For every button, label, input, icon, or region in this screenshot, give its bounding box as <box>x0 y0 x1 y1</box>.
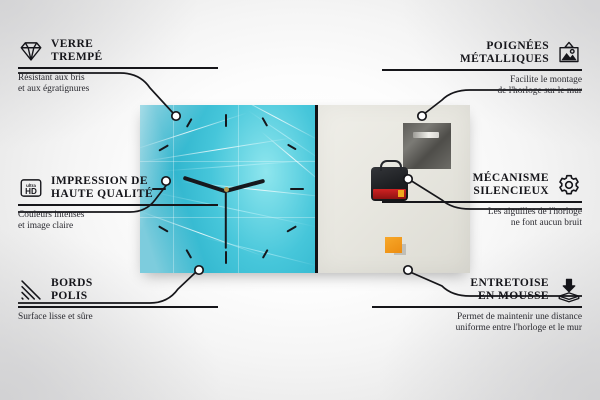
callout-title-line2: TREMPÉ <box>51 51 103 64</box>
callout-title-line2: SILENCIEUX <box>473 185 549 198</box>
diagonal-lines-icon <box>18 277 44 303</box>
callout-title-line2: EN MOUSSE <box>470 290 549 303</box>
callout-title-line1: POIGNÉES <box>460 40 549 53</box>
callout-sub-line1: Résistant aux bris <box>18 73 218 84</box>
ultra-hd-icon: ultra HD <box>18 175 44 201</box>
callout-rule <box>382 69 582 71</box>
callout-header: POIGNÉES MÉTALLIQUES <box>382 40 582 66</box>
callout-rule <box>382 201 582 203</box>
callout-header: ultra HD IMPRESSION DE HAUTE QUALITÉ <box>18 175 218 201</box>
callout-impression-haute-qualite: ultra HD IMPRESSION DE HAUTE QUALITÉ Cou… <box>18 175 218 232</box>
callout-rule <box>18 204 218 206</box>
clock-tick <box>286 225 296 232</box>
clock-center-pin <box>224 187 229 192</box>
callout-sub-line1: Couleurs intenses <box>18 210 218 221</box>
callout-sub-line1: Les aiguilles de l'horloge <box>382 207 582 218</box>
callout-sub-line1: Permet de maintenir une distance <box>372 312 582 323</box>
mechanism-hanging-loop <box>380 160 402 171</box>
callout-mecanisme-silencieux: MÉCANISME SILENCIEUX Les aiguilles de l'… <box>382 172 582 229</box>
callout-header: BORDS POLIS <box>18 277 218 303</box>
callout-rule <box>18 306 218 308</box>
callout-title-line1: ENTRETOISE <box>470 277 549 290</box>
clock-tick <box>225 251 227 264</box>
clock-tick <box>287 144 296 150</box>
metal-hanger-plate <box>403 123 451 169</box>
callout-title-line2: POLIS <box>51 290 93 303</box>
clock-tick <box>158 144 168 151</box>
callout-verre-trempe: VERRE TREMPÉ Résistant aux bris et aux é… <box>18 38 218 95</box>
infographic-canvas: VERRE TREMPÉ Résistant aux bris et aux é… <box>0 0 600 400</box>
callout-rule <box>18 67 218 69</box>
gear-icon <box>556 172 582 198</box>
callout-sub-line2: uniforme entre l'horloge et le mur <box>372 323 582 334</box>
clock-tick <box>290 188 304 190</box>
clock-tick <box>186 249 192 258</box>
callout-title-line1: IMPRESSION DE <box>51 175 153 188</box>
callout-header: VERRE TREMPÉ <box>18 38 218 64</box>
callout-rule <box>372 306 582 308</box>
callout-sub-line2: ne font aucun bruit <box>382 218 582 229</box>
callout-title-line1: MÉCANISME <box>473 172 549 185</box>
ultra-hd-large-text: HD <box>25 187 37 196</box>
clock-second-hand <box>225 191 227 249</box>
clock-tick <box>225 114 227 127</box>
callout-title-line1: BORDS <box>51 277 93 290</box>
callout-header: ENTRETOISE EN MOUSSE <box>372 277 582 303</box>
arrow-onto-pad-icon <box>556 277 582 303</box>
callout-sub-line1: Surface lisse et sûre <box>18 312 218 323</box>
callout-title-line1: VERRE <box>51 38 103 51</box>
foam-spacer <box>385 237 402 253</box>
callout-header: MÉCANISME SILENCIEUX <box>382 172 582 198</box>
callout-bords-polis: BORDS POLIS Surface lisse et sûre <box>18 277 218 323</box>
hanger-slot <box>413 132 439 138</box>
callout-entretoise-en-mousse: ENTRETOISE EN MOUSSE Permet de maintenir… <box>372 277 582 334</box>
callout-title-line2: HAUTE QUALITÉ <box>51 188 153 201</box>
clock-tick <box>186 118 192 127</box>
callout-sub-line2: et image claire <box>18 221 218 232</box>
callout-poignees-metalliques: POIGNÉES MÉTALLIQUES Facilite le montage… <box>382 40 582 97</box>
callout-sub-line2: de l'horloge sur le mur <box>382 86 582 97</box>
callout-sub-line1: Facilite le montage <box>382 75 582 86</box>
hanging-frame-icon <box>556 40 582 66</box>
diamond-icon <box>18 38 44 64</box>
callout-sub-line2: et aux égratignures <box>18 84 218 95</box>
callout-title-line2: MÉTALLIQUES <box>460 53 549 66</box>
